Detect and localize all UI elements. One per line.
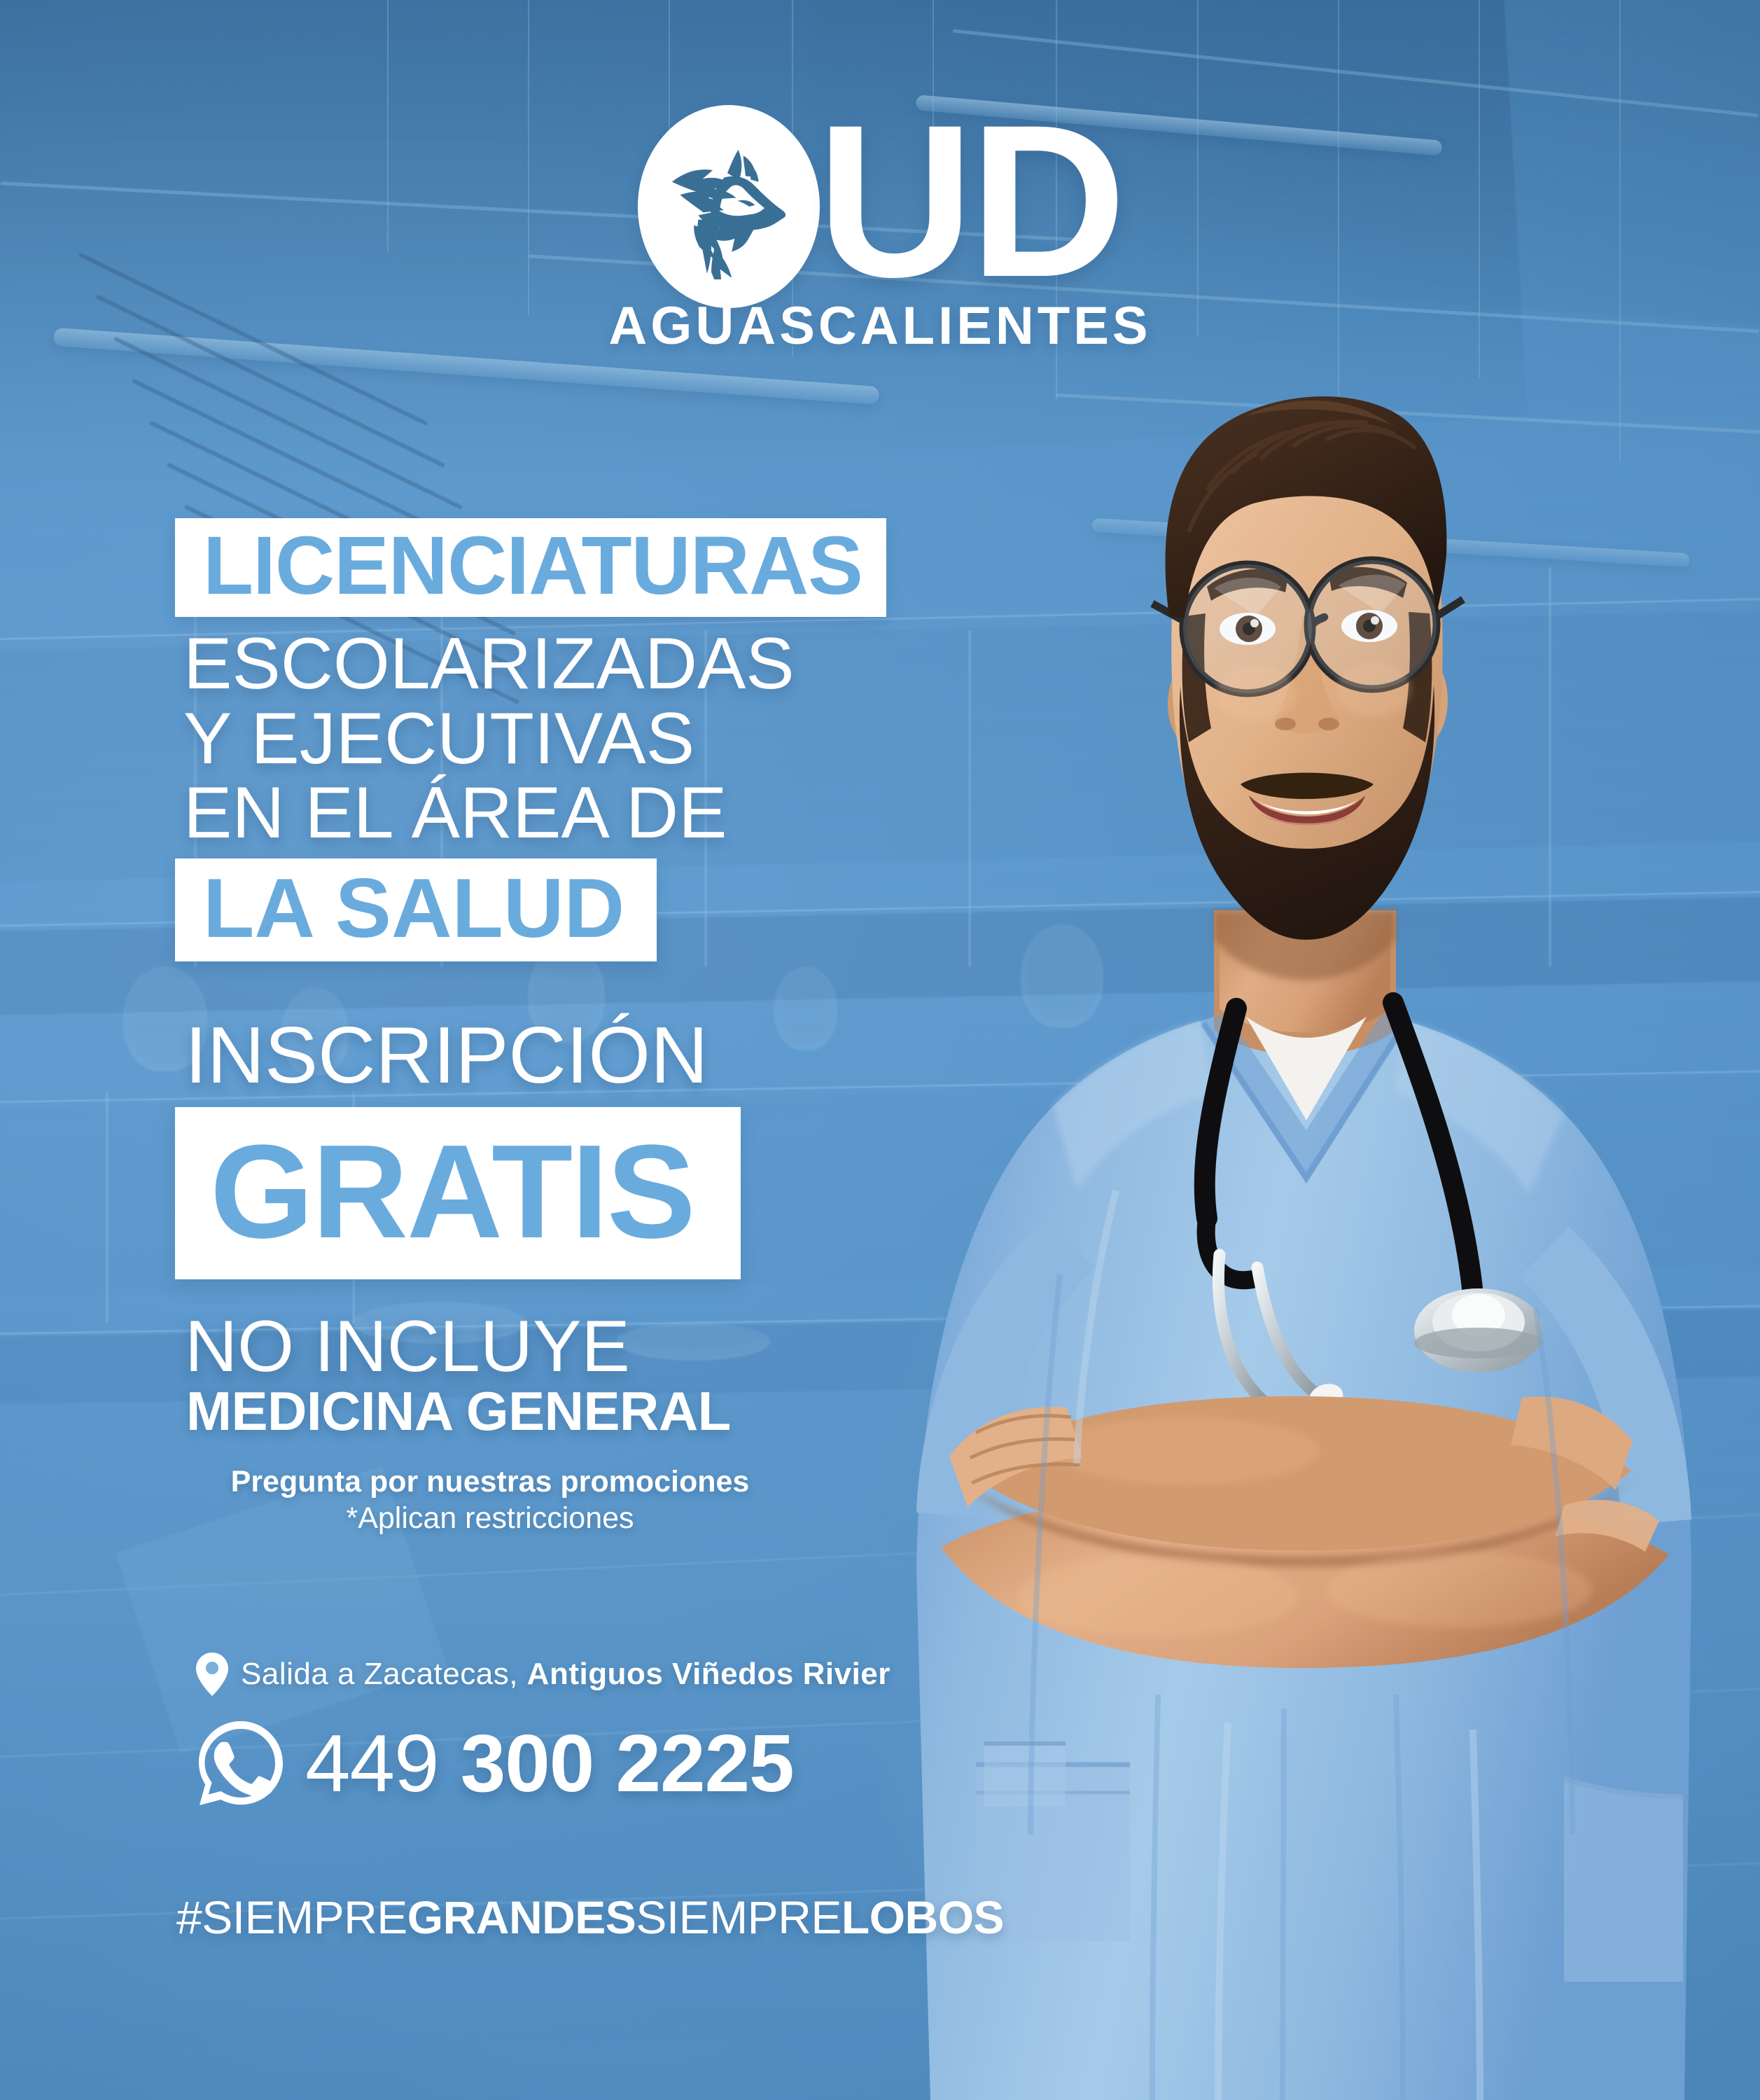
offer-value-gratis: GRATIS bbox=[175, 1107, 741, 1279]
address-plain: Salida a Zacatecas, bbox=[241, 1657, 527, 1691]
hashtag-part-grandes: GRANDES bbox=[407, 1891, 636, 1943]
promotional-poster: UD AGUASCALIENTES LICENCIATURAS ESCOLARI… bbox=[0, 0, 1760, 2100]
address-row[interactable]: Salida a Zacatecas, Antiguos Viñedos Riv… bbox=[196, 1653, 891, 1696]
headline-block: LICENCIATURAS ESCOLARIZADAS Y EJECUTIVAS… bbox=[175, 518, 1001, 1538]
map-pin-icon bbox=[196, 1653, 228, 1696]
logo-campus-name: AGUASCALIENTES bbox=[608, 295, 1151, 356]
offer-label-inscripcion: INSCRIPCIÓN bbox=[175, 1016, 1001, 1096]
campaign-hashtag: #SIEMPREGRANDESSIEMPRELOBOS bbox=[176, 1891, 1004, 1944]
hashtag-part-siempre-1: #SIEMPRE bbox=[176, 1891, 407, 1943]
phone-number: 449 300 2225 bbox=[305, 1723, 794, 1804]
headline-line-ejecutivas: Y EJECUTIVAS bbox=[175, 702, 1001, 776]
contact-block: Salida a Zacatecas, Antiguos Viñedos Riv… bbox=[196, 1653, 891, 1809]
exclusion-line-no-incluye: NO INCLUYE bbox=[175, 1310, 1001, 1383]
headline-licenciaturas: LICENCIATURAS bbox=[175, 518, 886, 617]
brand-logo: UD AGUASCALIENTES bbox=[0, 105, 1760, 356]
phone-prefix: 449 bbox=[305, 1718, 461, 1809]
hashtag-part-siempre-2: SIEMPRE bbox=[636, 1891, 841, 1943]
logo-row: UD bbox=[638, 105, 1122, 308]
headline-line-area: EN EL ÁREA DE bbox=[175, 776, 1001, 850]
whatsapp-icon[interactable] bbox=[196, 1717, 286, 1809]
promo-disclaimer: *Aplican restricciones bbox=[175, 1500, 805, 1538]
wolf-head-logo-icon bbox=[638, 105, 820, 308]
hashtag-part-lobos: LOBOS bbox=[841, 1891, 1004, 1943]
exclusion-line-medicina-general: MEDICINA GENERAL bbox=[175, 1383, 1001, 1440]
address-text: Salida a Zacatecas, Antiguos Viñedos Riv… bbox=[241, 1657, 891, 1692]
headline-line-escolarizadas: ESCOLARIZADAS bbox=[175, 627, 1001, 701]
phone-row[interactable]: 449 300 2225 bbox=[196, 1717, 891, 1809]
logo-wordmark: UD bbox=[817, 116, 1122, 297]
address-bold: Antiguos Viñedos Rivier bbox=[527, 1657, 891, 1691]
phone-main: 300 2225 bbox=[461, 1718, 794, 1809]
promo-note: Pregunta por nuestras promociones bbox=[175, 1464, 805, 1501]
headline-la-salud: LA SALUD bbox=[175, 858, 657, 961]
